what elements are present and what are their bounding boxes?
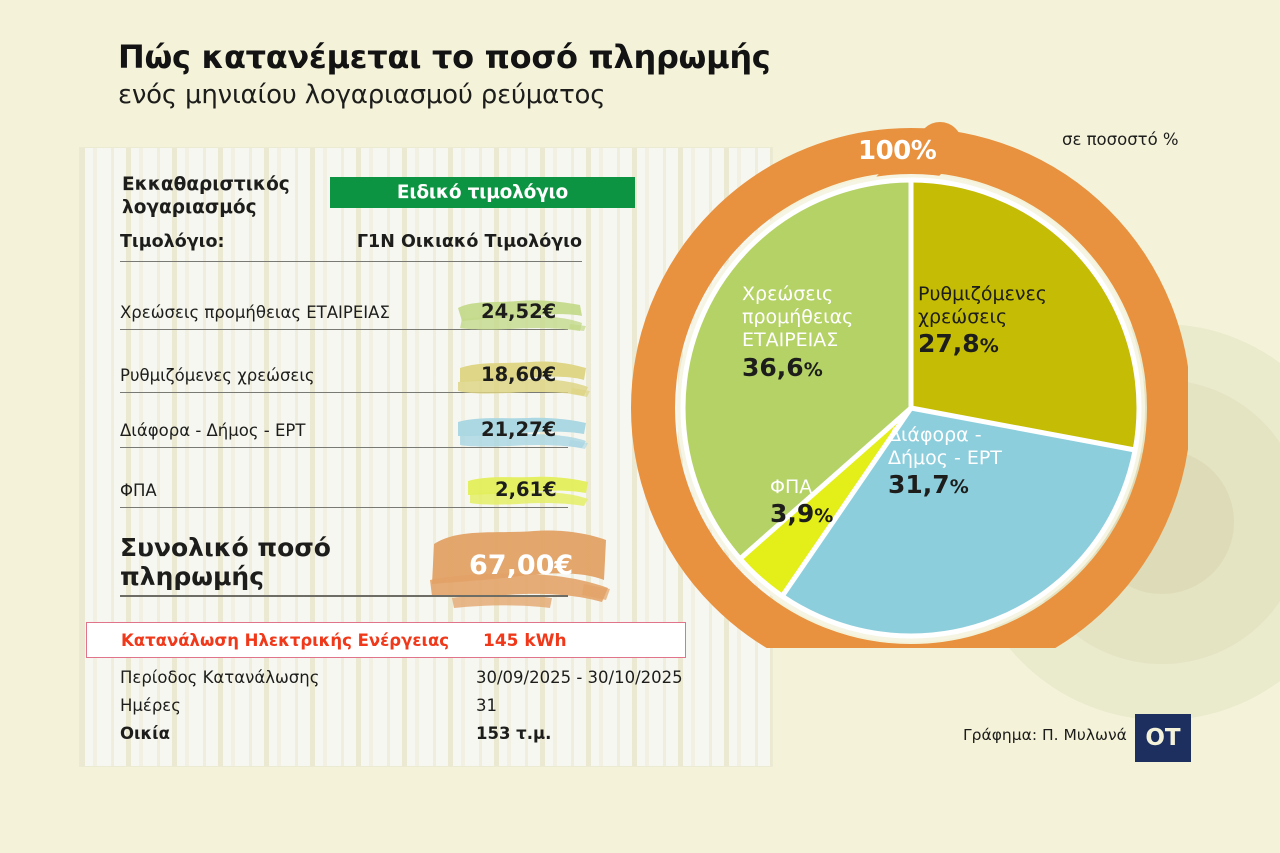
total-divider — [120, 595, 568, 597]
tariff-value: Γ1Ν Οικιακό Τιμολόγιο — [357, 232, 582, 252]
pie-label-misc: Διάφορα - Δήμος - ΕΡΤ 31,7% — [888, 424, 1002, 500]
tariff-divider — [120, 261, 582, 262]
pie-label-regulated: Ρυθμιζόμενες χρεώσεις 27,8% — [918, 283, 1047, 359]
consumption-label: Κατανάλωση Ηλεκτρικής Ενέργειας — [121, 631, 449, 650]
days-label: Ημέρες — [120, 696, 181, 715]
bill-row-misc-value: 21,27€ — [481, 418, 556, 441]
pie-label-supply-line3: ΕΤΑΙΡΕΙΑΣ — [742, 329, 853, 352]
bill-heading-line1: Εκκαθαριστικός — [122, 173, 290, 196]
pie-label-regulated-line2: χρεώσεις — [918, 306, 1047, 329]
pie-value-misc: 31,7% — [888, 471, 1002, 500]
credit-text: Γράφημα: Π. Μυλωνά — [963, 726, 1127, 744]
bill-row-vat-value: 2,61€ — [495, 478, 557, 501]
days-value: 31 — [476, 696, 497, 715]
period-value: 30/09/2025 - 30/10/2025 — [476, 668, 683, 687]
bill-row-regulated-value: 18,60€ — [481, 363, 556, 386]
bill-row-vat-label: ΦΠΑ — [120, 481, 157, 500]
ot-logo: OT — [1135, 714, 1191, 762]
pie-label-regulated-line1: Ρυθμιζόμενες — [918, 283, 1047, 306]
bill-row-supply-label: Χρεώσεις προμήθειας ΕΤΑΙΡΕΙΑΣ — [120, 303, 390, 322]
consumption-value: 145 kWh — [483, 631, 567, 651]
special-tariff-badge: Ειδικό τιμολόγιο — [330, 177, 635, 208]
ring-total-label: 100% — [858, 136, 936, 166]
pie-value-vat: 3,9% — [770, 500, 833, 529]
period-label: Περίοδος Κατανάλωσης — [120, 668, 319, 687]
pie-value-regulated: 27,8% — [918, 330, 1047, 359]
bill-row-misc-label: Διάφορα - Δήμος - ΕΡΤ — [120, 421, 305, 440]
total-label-line1: Συνολικό ποσό — [120, 534, 331, 563]
tariff-label: Τιμολόγιο: — [120, 232, 225, 252]
pie-label-supply-line1: Χρεώσεις — [742, 283, 853, 306]
total-label-line2: πληρωμής — [120, 563, 331, 592]
tariff-row: Τιμολόγιο: Γ1Ν Οικιακό Τιμολόγιο — [120, 232, 582, 252]
pie-label-supply: Χρεώσεις προμήθειας ΕΤΑΙΡΕΙΑΣ 36,6% — [742, 283, 853, 382]
pie-label-supply-line2: προμήθειας — [742, 306, 853, 329]
pie-label-misc-line2: Δήμος - ΕΡΤ — [888, 447, 1002, 470]
bill-heading: Εκκαθαριστικός λογαριασμός — [122, 173, 290, 219]
bill-heading-line2: λογαριασμός — [122, 196, 290, 219]
pie-label-vat-line1: ΦΠΑ — [770, 476, 833, 499]
home-value: 153 τ.μ. — [476, 724, 551, 743]
pie-label-misc-line1: Διάφορα - — [888, 424, 1002, 447]
consumption-box: Κατανάλωση Ηλεκτρικής Ενέργειας 145 kWh — [86, 622, 686, 658]
bill-row-regulated-label: Ρυθμιζόμενες χρεώσεις — [120, 366, 315, 385]
pie-label-vat: ΦΠΑ 3,9% — [770, 476, 833, 529]
home-label: Οικία — [120, 724, 170, 743]
total-value: 67,00€ — [469, 550, 573, 581]
pie-value-supply: 36,6% — [742, 354, 853, 383]
bill-row-supply-value: 24,52€ — [481, 300, 556, 323]
total-label: Συνολικό ποσό πληρωμής — [120, 534, 331, 592]
